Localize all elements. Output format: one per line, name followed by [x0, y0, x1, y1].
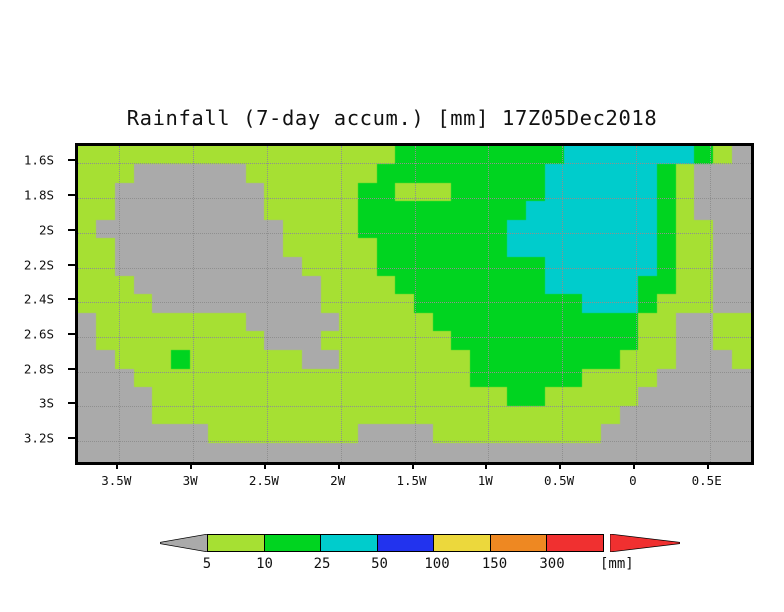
- y-axis-tick-label-6: 2.8S: [24, 361, 54, 376]
- y-axis-tick-mark-6: [68, 368, 75, 370]
- y-axis-tick-label-7: 3S: [39, 396, 54, 411]
- y-axis-tick-label-5: 2.6S: [24, 326, 54, 341]
- colorbar-swatches: [207, 534, 604, 552]
- heatmap-region: [78, 146, 751, 462]
- x-axis-tick-mark-2: [264, 462, 266, 469]
- colorbar-unit-label: [mm]: [600, 556, 634, 572]
- colorbar-swatch-2: [320, 534, 378, 552]
- x-axis-tick-mark-1: [190, 462, 192, 469]
- colorbar-tick-label-0: 5: [203, 556, 211, 572]
- y-axis-tick-mark-1: [68, 194, 75, 196]
- colorbar-swatch-4: [433, 534, 491, 552]
- y-axis-tick-mark-2: [68, 229, 75, 231]
- rainfall-map-panel: [75, 143, 754, 465]
- colorbar-tick-label-1: 10: [256, 556, 273, 572]
- y-axis-tick-mark-7: [68, 402, 75, 404]
- x-axis-tick-mark-3: [338, 462, 340, 469]
- colorbar-swatch-5: [490, 534, 548, 552]
- colorbar-tick-label-5: 150: [482, 556, 507, 572]
- y-axis-tick-mark-3: [68, 264, 75, 266]
- colorbar-swatch-6: [546, 534, 604, 552]
- y-axis-tick-mark-0: [68, 159, 75, 161]
- x-axis-tick-label-3: 2W: [330, 473, 345, 488]
- colorbar-over-arrow-icon: [610, 534, 680, 552]
- rainfall-heatmap-canvas: [78, 146, 751, 462]
- page-title: Rainfall (7-day accum.) [mm] 17Z05Dec201…: [0, 106, 784, 130]
- y-axis-tick-mark-5: [68, 333, 75, 335]
- y-axis-tick-mark-8: [68, 437, 75, 439]
- x-axis-tick-mark-8: [707, 462, 709, 469]
- x-axis-tick-mark-5: [485, 462, 487, 469]
- y-axis-tick-label-8: 3.2S: [24, 431, 54, 446]
- colorbar-under-arrow-icon: [160, 534, 208, 552]
- y-axis-tick-mark-4: [68, 298, 75, 300]
- colorbar: 5102550100150300 [mm]: [0, 534, 784, 594]
- x-axis-tick-label-0: 3.5W: [101, 473, 131, 488]
- colorbar-swatch-3: [377, 534, 435, 552]
- x-axis-tick-label-1: 3W: [183, 473, 198, 488]
- x-axis-tick-label-7: 0: [629, 473, 637, 488]
- x-axis-tick-label-6: 0.5W: [544, 473, 574, 488]
- colorbar-swatch-0: [207, 534, 265, 552]
- x-axis-tick-mark-7: [633, 462, 635, 469]
- colorbar-tick-label-4: 100: [424, 556, 449, 572]
- x-axis-tick-label-5: 1W: [478, 473, 493, 488]
- colorbar-swatch-1: [264, 534, 322, 552]
- x-axis-tick-label-2: 2.5W: [249, 473, 279, 488]
- x-axis-tick-mark-4: [412, 462, 414, 469]
- y-axis-tick-label-2: 2S: [39, 222, 54, 237]
- x-axis-tick-label-8: 0.5E: [692, 473, 722, 488]
- colorbar-tick-label-6: 300: [539, 556, 564, 572]
- x-axis-tick-mark-0: [116, 462, 118, 469]
- y-axis-tick-label-0: 1.6S: [24, 153, 54, 168]
- y-axis-tick-label-4: 2.4S: [24, 292, 54, 307]
- y-axis-tick-label-3: 2.2S: [24, 257, 54, 272]
- x-axis-tick-mark-6: [559, 462, 561, 469]
- y-axis-tick-label-1: 1.8S: [24, 188, 54, 203]
- colorbar-tick-label-2: 25: [314, 556, 331, 572]
- colorbar-tick-label-3: 50: [371, 556, 388, 572]
- x-axis-tick-label-4: 1.5W: [396, 473, 426, 488]
- y-axis: 1.6S1.8S2S2.2S2.4S2.6S2.8S3S3.2S: [0, 0, 68, 612]
